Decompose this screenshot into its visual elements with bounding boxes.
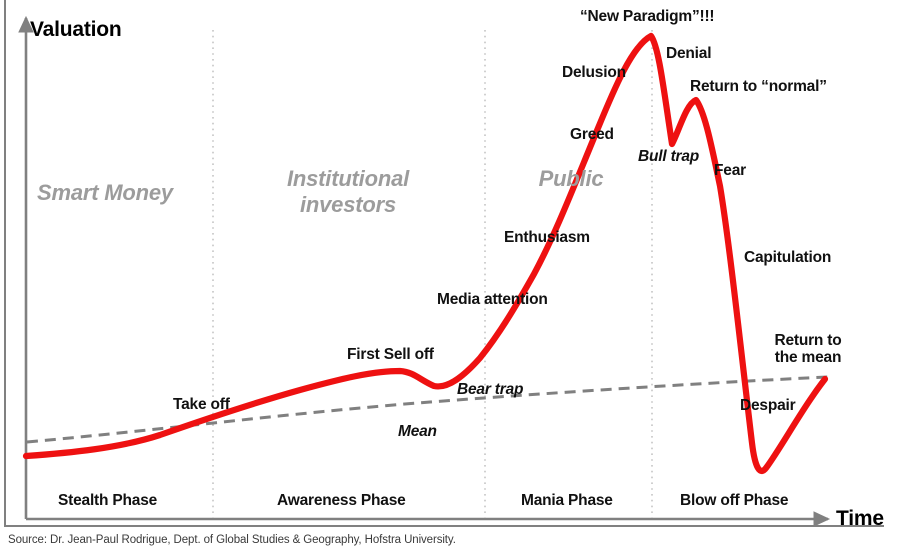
- annotation-delusion: Delusion: [562, 64, 626, 81]
- actor-label-public: Public: [528, 166, 614, 192]
- annotation-bull-trap: Bull trap: [638, 148, 699, 165]
- annotation-first-sell-off: First Sell off: [347, 346, 434, 363]
- annotation-greed: Greed: [570, 126, 614, 143]
- annotation-return-to-mean-line1: Return to: [774, 332, 841, 349]
- actor-label-institutional-line2: investors: [300, 192, 396, 217]
- bubble-stages-chart: Valuation Time Smart Money Institutional…: [0, 0, 900, 558]
- source-attribution: Source: Dr. Jean-Paul Rodrigue, Dept. of…: [8, 534, 456, 546]
- annotation-denial: Denial: [666, 45, 711, 62]
- annotation-bear-trap: Bear trap: [457, 381, 523, 398]
- x-axis-title: Time: [836, 507, 884, 531]
- annotation-return-to-the-mean: Return to the mean: [765, 332, 851, 367]
- annotation-fear: Fear: [714, 162, 746, 179]
- actor-label-institutional-line1: Institutional: [287, 166, 409, 191]
- annotation-despair: Despair: [740, 397, 795, 414]
- annotation-take-off: Take off: [173, 396, 230, 413]
- annotation-return-to-normal: Return to “normal”: [690, 78, 827, 95]
- annotation-new-paradigm: “New Paradigm”!!!: [580, 8, 714, 25]
- phase-label-mania: Mania Phase: [521, 492, 613, 509]
- actor-label-smart-money: Smart Money: [35, 180, 175, 206]
- annotation-return-to-mean-line2: the mean: [775, 349, 841, 366]
- phase-label-blowoff: Blow off Phase: [680, 492, 788, 509]
- phase-label-stealth: Stealth Phase: [58, 492, 157, 509]
- annotation-media-attention: Media attention: [437, 291, 548, 308]
- annotation-mean: Mean: [398, 423, 437, 440]
- bubble-valuation-curve: [26, 36, 825, 471]
- phase-label-awareness: Awareness Phase: [277, 492, 406, 509]
- actor-label-institutional-investors: Institutional investors: [268, 166, 428, 219]
- annotation-enthusiasm: Enthusiasm: [504, 229, 590, 246]
- phase-divider-lines: [213, 30, 652, 518]
- annotation-capitulation: Capitulation: [744, 249, 831, 266]
- y-axis-title: Valuation: [30, 18, 122, 42]
